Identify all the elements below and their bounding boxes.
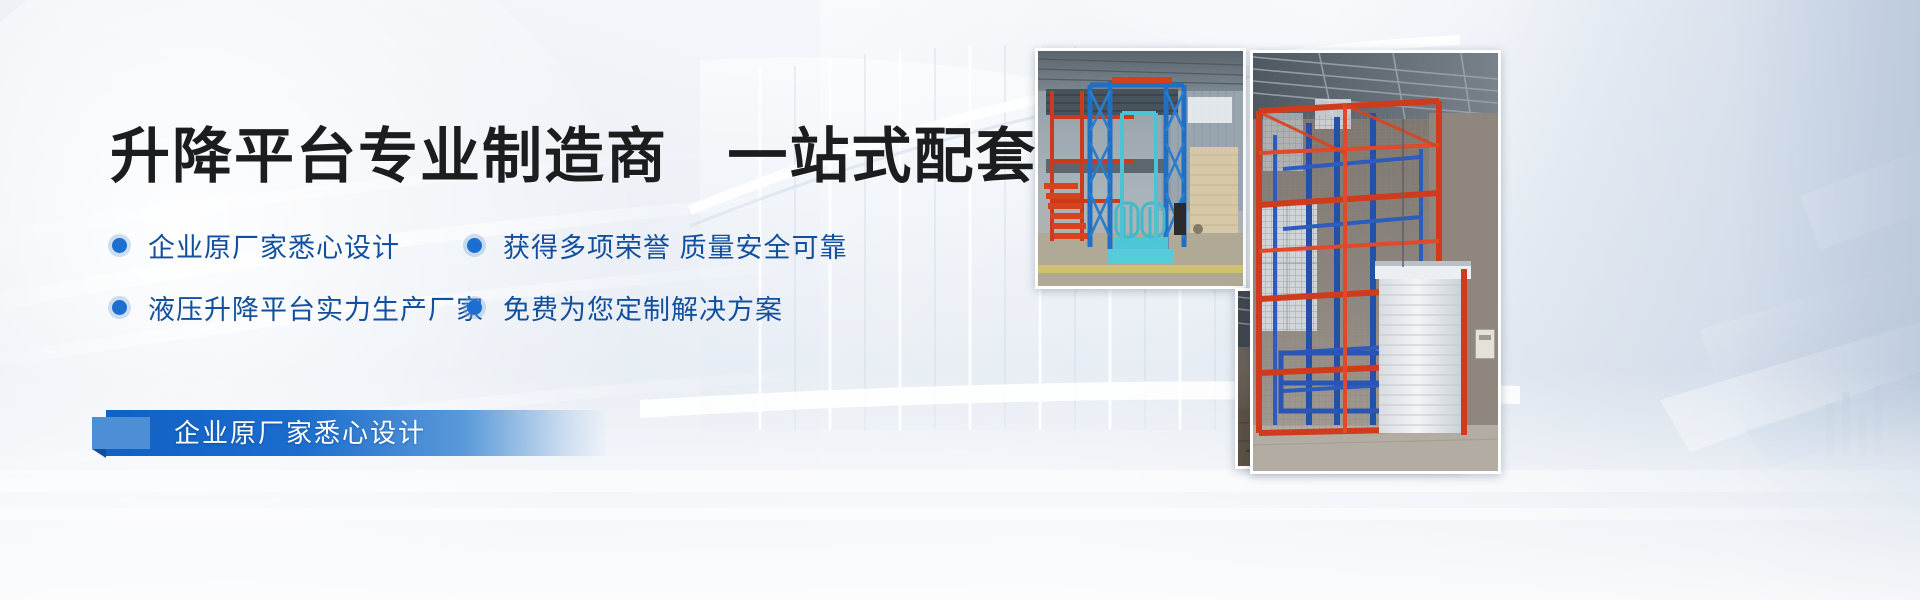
bullet-dot-icon xyxy=(467,300,482,315)
photo-3-graphic xyxy=(1253,53,1498,471)
bullet-item-4: 免费为您定制解决方案 xyxy=(467,288,887,327)
photo-1-graphic xyxy=(1038,51,1243,286)
bullet-item-3: 液压升降平台实力生产厂家 xyxy=(112,288,467,327)
bullet-dot-icon xyxy=(112,300,127,315)
banner-content: 升降平台专业制造商 一站式配套服务 企业原厂家悉心设计 获得多项荣誉 质量安全可… xyxy=(0,0,1000,600)
headline-part-1: 升降平台专业制造商 xyxy=(110,123,668,190)
ribbon-tab xyxy=(92,417,150,449)
ribbon-label: 企业原厂家悉心设计 xyxy=(174,410,426,456)
bullet-row: 企业原厂家悉心设计 获得多项荣誉 质量安全可靠 xyxy=(112,214,972,276)
ribbon-notch xyxy=(92,449,106,458)
bullet-item-1: 企业原厂家悉心设计 xyxy=(112,226,467,265)
promo-banner: 升降平台专业制造商 一站式配套服务 企业原厂家悉心设计 获得多项荣誉 质量安全可… xyxy=(0,0,1920,600)
bullet-dot-icon xyxy=(467,238,482,253)
bullet-label: 获得多项荣誉 质量安全可靠 xyxy=(503,226,848,265)
bullet-row: 液压升降平台实力生产厂家 免费为您定制解决方案 xyxy=(112,276,972,338)
bullet-item-2: 获得多项荣誉 质量安全可靠 xyxy=(467,226,887,265)
bullet-dot-icon xyxy=(112,238,127,253)
bullet-label: 液压升降平台实力生产厂家 xyxy=(148,288,484,327)
photo-guide-rail-cargo-lift-mezzanine xyxy=(1035,48,1246,289)
highlight-ribbon: 企业原厂家悉心设计 xyxy=(106,410,606,456)
bullet-label: 免费为您定制解决方案 xyxy=(503,288,783,327)
bullet-label: 企业原厂家悉心设计 xyxy=(148,226,400,265)
headline: 升降平台专业制造商 一站式配套服务 xyxy=(110,108,1161,195)
photo-caged-guide-rail-lift-roller-door xyxy=(1250,50,1501,474)
product-photo-collage xyxy=(1035,0,1920,600)
feature-bullet-list: 企业原厂家悉心设计 获得多项荣誉 质量安全可靠 液压升降平台实力生产厂家 免费为… xyxy=(112,214,972,338)
